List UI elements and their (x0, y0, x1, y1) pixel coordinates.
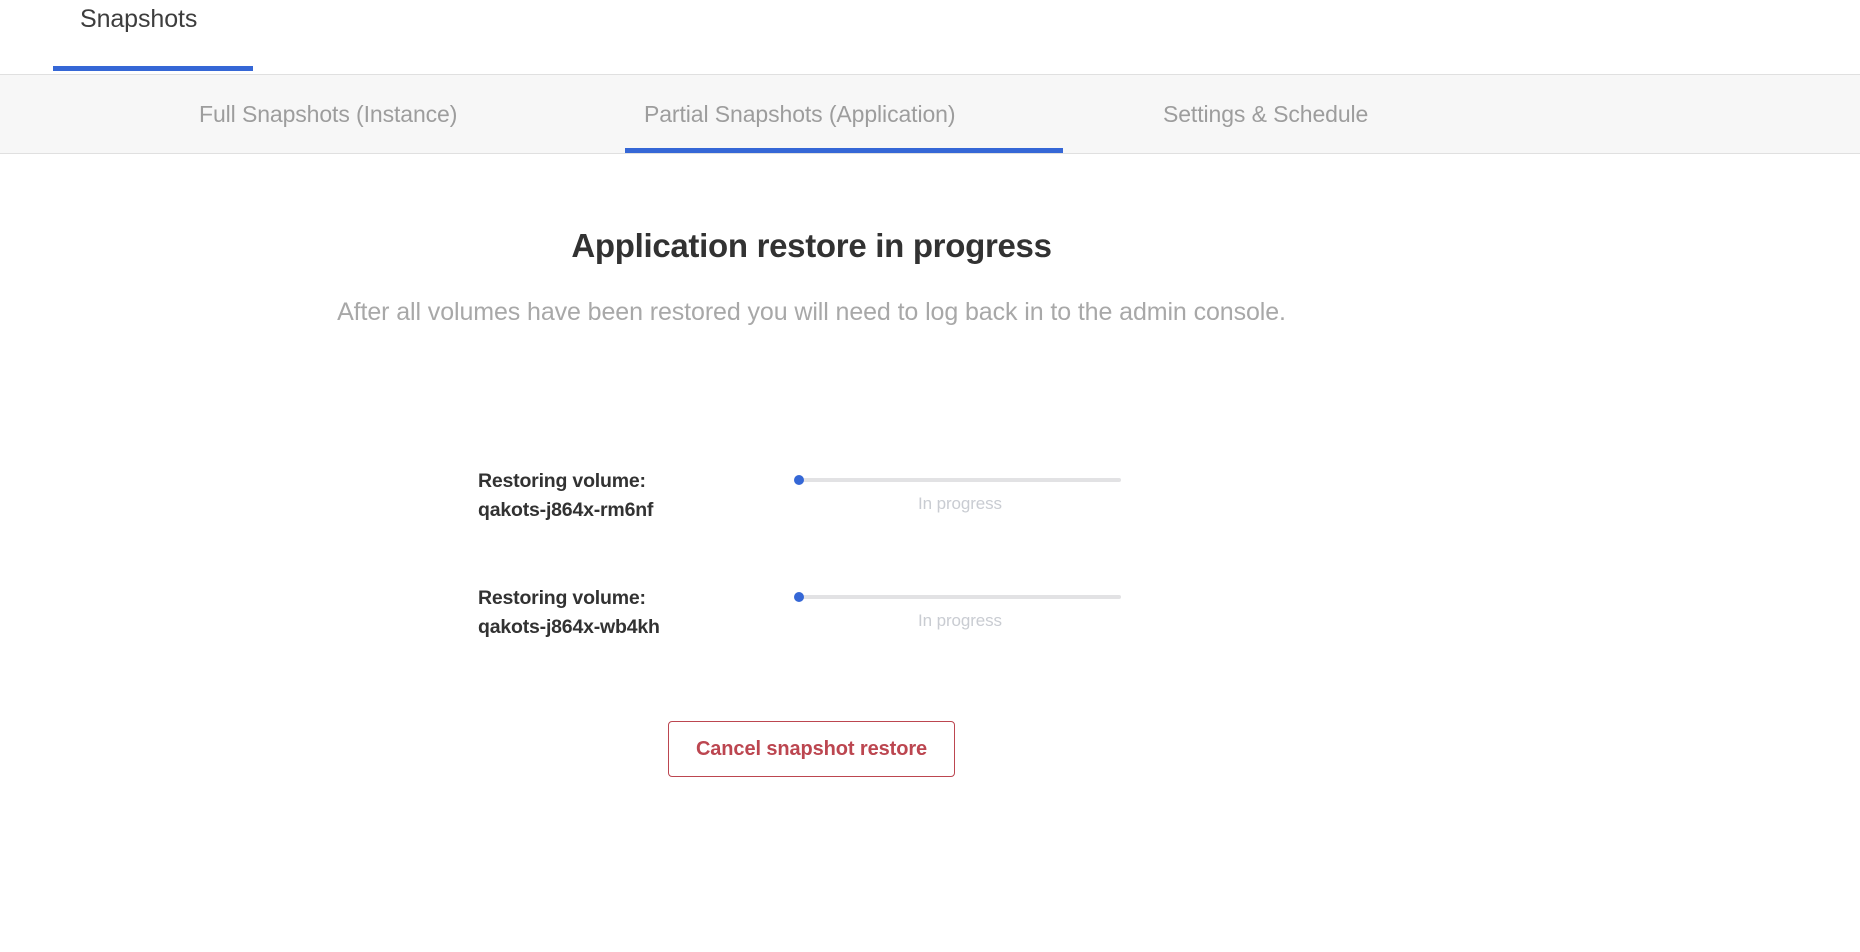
volume-name: qakots-j864x-wb4kh (478, 613, 778, 642)
volume-label-line1: Restoring volume: (478, 467, 778, 496)
page-title: Application restore in progress (0, 227, 1623, 265)
subtab-settings-and-schedule[interactable]: Settings & Schedule (1163, 75, 1368, 153)
tab-label: Snapshots (80, 5, 197, 34)
volume-progress: In progress (799, 584, 1121, 631)
volume-progress: In progress (799, 467, 1121, 514)
progress-status-label: In progress (799, 494, 1121, 514)
progress-bar-track (799, 478, 1121, 482)
page-subtitle: After all volumes have been restored you… (0, 298, 1623, 327)
progress-status-label: In progress (799, 611, 1121, 631)
restore-progress-panel: Application restore in progress After al… (0, 154, 1860, 952)
volume-restore-list: Restoring volume: qakots-j864x-rm6nf In … (0, 467, 1623, 701)
volume-label: Restoring volume: qakots-j864x-rm6nf (478, 467, 778, 525)
subtab-full-snapshots-instance[interactable]: Full Snapshots (Instance) (199, 75, 457, 153)
secondary-tab-bar: Full Snapshots (Instance) Partial Snapsh… (0, 74, 1860, 154)
volume-restore-row: Restoring volume: qakots-j864x-rm6nf In … (0, 467, 1623, 584)
primary-tab-bar: nt Snapshots (0, 0, 1860, 74)
tab-snapshots-active-indicator (53, 66, 253, 71)
progress-bar-knob (794, 592, 804, 602)
action-row: Cancel snapshot restore (0, 721, 1623, 777)
volume-name: qakots-j864x-rm6nf (478, 496, 778, 525)
tab-snapshots[interactable]: Snapshots (80, 0, 197, 74)
subtab-label: Settings & Schedule (1163, 101, 1368, 128)
volume-label: Restoring volume: qakots-j864x-wb4kh (478, 584, 778, 642)
subtab-label: Partial Snapshots (Application) (644, 101, 955, 128)
subtab-label: Full Snapshots (Instance) (199, 101, 457, 128)
volume-restore-row: Restoring volume: qakots-j864x-wb4kh In … (0, 584, 1623, 701)
subtab-partial-snapshots-application[interactable]: Partial Snapshots (Application) (644, 75, 955, 153)
subtab-active-indicator (625, 148, 1063, 153)
cancel-snapshot-restore-button[interactable]: Cancel snapshot restore (668, 721, 955, 777)
progress-bar-knob (794, 475, 804, 485)
volume-label-line1: Restoring volume: (478, 584, 778, 613)
progress-bar-track (799, 595, 1121, 599)
